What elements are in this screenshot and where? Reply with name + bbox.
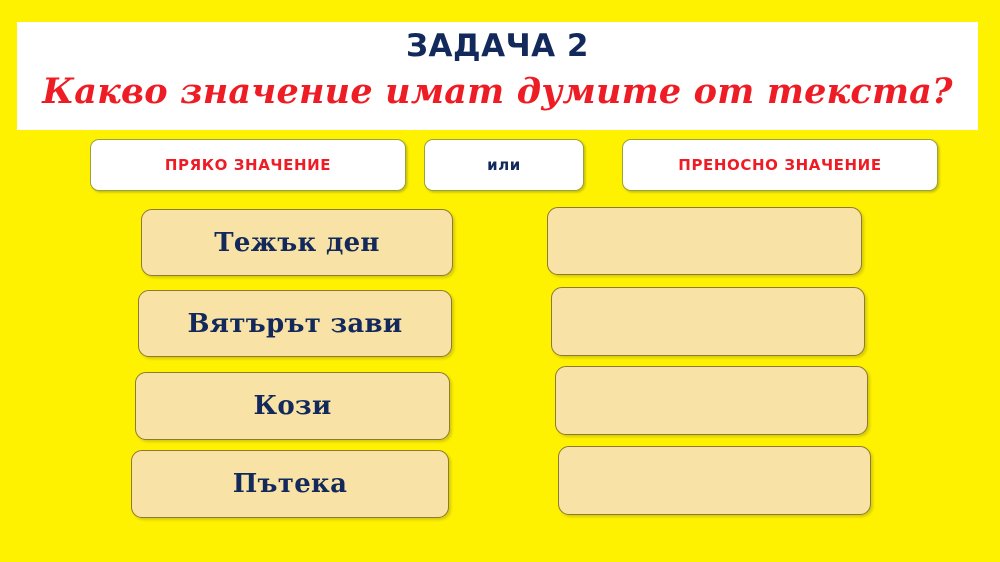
word-card-label: Пътека bbox=[233, 469, 348, 499]
page-subtitle: Какво значение имат думите от текста? bbox=[42, 68, 953, 116]
choice-button-direct-meaning[interactable]: ПРЯКО ЗНАЧЕНИЕ bbox=[90, 139, 406, 191]
slide-canvas: ЗАДАЧА 2 Какво значение имат думите от т… bbox=[0, 0, 1000, 562]
answer-slot[interactable] bbox=[558, 446, 871, 515]
word-card[interactable]: Вятърът зави bbox=[138, 290, 452, 357]
choice-label-figurative-meaning: ПРЕНОСНО ЗНАЧЕНИЕ bbox=[678, 156, 881, 174]
word-card[interactable]: Тежък ден bbox=[141, 209, 453, 276]
choice-label-or: или bbox=[487, 156, 521, 174]
word-card-label: Вятърът зави bbox=[188, 309, 403, 339]
header-panel: ЗАДАЧА 2 Какво значение имат думите от т… bbox=[17, 22, 978, 130]
page-title: ЗАДАЧА 2 bbox=[406, 24, 589, 68]
choice-label-direct-meaning: ПРЯКО ЗНАЧЕНИЕ bbox=[165, 156, 331, 174]
answer-slot[interactable] bbox=[547, 207, 862, 275]
choice-button-figurative-meaning[interactable]: ПРЕНОСНО ЗНАЧЕНИЕ bbox=[622, 139, 938, 191]
choice-button-or[interactable]: или bbox=[424, 139, 584, 191]
word-card-label: Кози bbox=[253, 391, 331, 421]
word-card[interactable]: Пътека bbox=[131, 450, 449, 518]
answer-slot[interactable] bbox=[551, 287, 865, 356]
answer-slot[interactable] bbox=[555, 366, 868, 435]
word-card[interactable]: Кози bbox=[135, 372, 450, 440]
word-card-label: Тежък ден bbox=[214, 228, 380, 258]
